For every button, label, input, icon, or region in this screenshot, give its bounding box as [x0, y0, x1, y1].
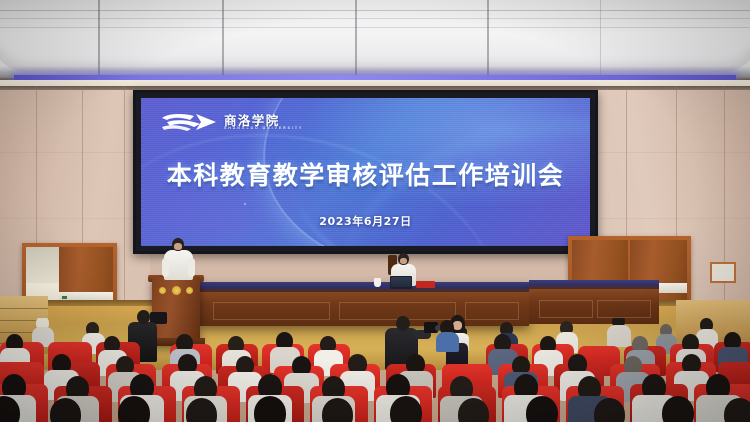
speaker-face [174, 243, 182, 250]
university-logo-mark [160, 111, 218, 133]
ceiling-groove-line [0, 27, 750, 28]
presenter-face [400, 258, 407, 264]
hallway-behind-door [26, 247, 59, 283]
red-nameplate [416, 281, 435, 288]
led-screen-frame: 商洛学院 SHANGLUO UNIVERSITY 本科教育教学审核评估工作培训会… [133, 90, 598, 254]
laptop-screen [391, 277, 411, 287]
paper-cup [374, 278, 381, 287]
side-door-left-handle[interactable] [62, 296, 67, 299]
audience-seating-area [0, 318, 750, 422]
podium-emblem [159, 287, 166, 294]
university-logo-english-name: SHANGLUO UNIVERSITY [224, 126, 303, 130]
led-screen: 商洛学院 SHANGLUO UNIVERSITY 本科教育教学审核评估工作培训会… [141, 98, 590, 246]
auditorium-photo: 商洛学院 SHANGLUO UNIVERSITY 本科教育教学审核评估工作培训会… [0, 0, 750, 422]
podium-emblem [186, 287, 193, 294]
wall-sign [710, 262, 736, 283]
ceiling-groove-line [0, 18, 750, 19]
presentation-title: 本科教育教学审核评估工作培训会 [141, 156, 590, 192]
ceiling [0, 0, 750, 78]
speaker-arm-left [162, 258, 169, 277]
ceiling-groove-line [0, 10, 750, 11]
university-logo: 商洛学院 SHANGLUO UNIVERSITY [160, 110, 300, 136]
podium-emblem [172, 286, 181, 295]
side-conference-table-top [529, 280, 659, 289]
screen-artifact-dot [244, 203, 246, 205]
speaker-arm-right [188, 258, 195, 277]
presentation-date: 2023年6月27日 [141, 213, 590, 229]
conference-table-top [199, 282, 529, 292]
